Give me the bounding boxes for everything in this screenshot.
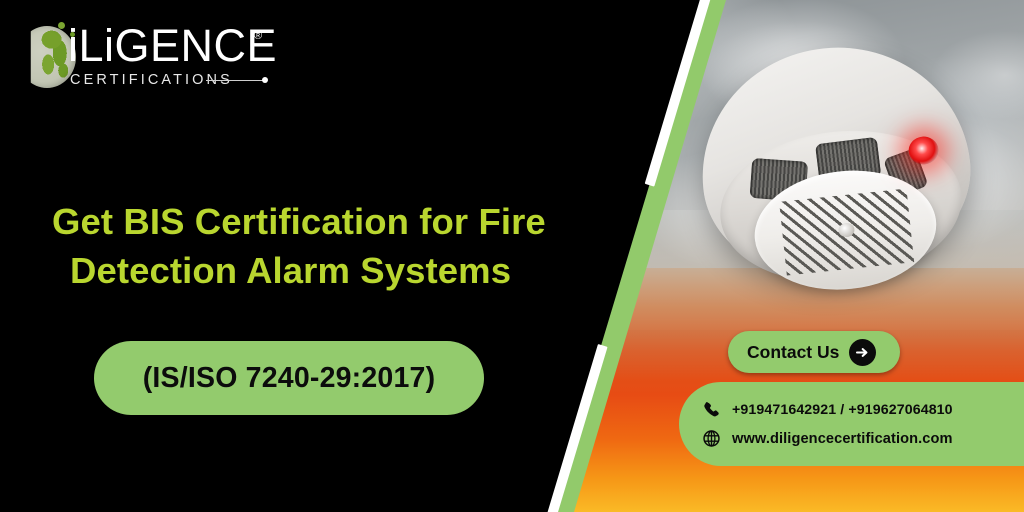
brand-name: iLiGENCE xyxy=(68,22,277,69)
logo-rule-dot-icon xyxy=(262,77,268,83)
website-url: www.diligencecertification.com xyxy=(732,431,953,447)
headline-line-1: Get BIS Certification for Fire xyxy=(52,201,546,242)
headline-line-2: Detection Alarm Systems xyxy=(52,247,592,296)
brand-logo[interactable]: iLiGENCE ® CERTIFICATIONS xyxy=(18,22,268,92)
standard-badge: (IS/ISO 7240-29:2017) xyxy=(94,341,484,415)
contact-us-button[interactable]: Contact Us xyxy=(728,331,900,373)
smoke-detector-icon xyxy=(673,2,1024,335)
promo-banner: iLiGENCE ® CERTIFICATIONS Get BIS Certif… xyxy=(0,0,1024,512)
globe-web-icon xyxy=(701,429,721,449)
left-content-panel: iLiGENCE ® CERTIFICATIONS Get BIS Certif… xyxy=(0,0,600,512)
standard-badge-label: (IS/ISO 7240-29:2017) xyxy=(143,362,436,395)
contact-details-card: +919471642921 / +919627064810 www.dilige… xyxy=(679,382,1024,466)
logo-divider-rule xyxy=(206,80,266,81)
contact-us-label: Contact Us xyxy=(747,342,839,363)
arrow-right-circle-icon xyxy=(849,339,876,366)
page-title: Get BIS Certification for Fire Detection… xyxy=(52,198,592,295)
phone-number: +919471642921 / +919627064810 xyxy=(732,402,953,418)
registered-trademark-icon: ® xyxy=(254,30,262,42)
contact-website-row[interactable]: www.diligencecertification.com xyxy=(701,424,1024,453)
globe-accent-dot-icon xyxy=(58,22,65,29)
contact-phone-row[interactable]: +919471642921 / +919627064810 xyxy=(701,395,1024,424)
phone-icon xyxy=(701,400,721,420)
